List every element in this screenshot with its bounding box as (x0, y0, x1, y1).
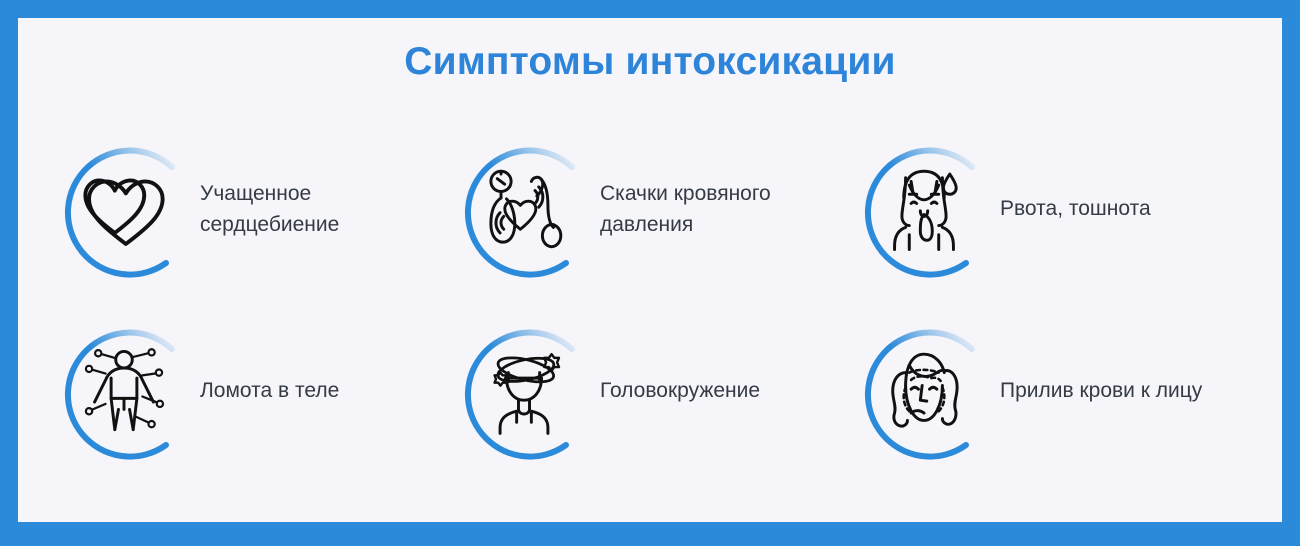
symptom-grid: Учащенное сердцебиение (54, 118, 1264, 482)
symptom-label: Головокружение (600, 375, 760, 406)
symptom-badge (54, 139, 194, 279)
symptom-badge (854, 139, 994, 279)
symptom-badge (454, 321, 594, 461)
symptom-item-blood-pressure[interactable]: Скачки кровяного давления (454, 118, 854, 300)
symptom-badge (454, 139, 594, 279)
symptom-label: Рвота, тошнота (1000, 193, 1151, 224)
blood-pressure-monitor-icon (478, 163, 570, 255)
infographic-panel: Симптомы интоксикации (18, 18, 1282, 522)
symptom-item-body-aches[interactable]: Ломота в теле (54, 300, 454, 482)
page-title: Симптомы интоксикации (18, 40, 1282, 84)
symptom-item-facial-flushing[interactable]: Прилив крови к лицу (854, 300, 1254, 482)
flushed-face-icon (878, 345, 970, 437)
symptom-label: Учащенное сердцебиение (200, 178, 435, 240)
symptom-label: Ломота в теле (200, 375, 339, 406)
symptom-label: Прилив крови к лицу (1000, 375, 1202, 406)
symptom-item-palpitations[interactable]: Учащенное сердцебиение (54, 118, 454, 300)
symptom-item-vomiting[interactable]: Рвота, тошнота (854, 118, 1254, 300)
body-pain-points-icon (78, 345, 170, 437)
infographic-card: Симптомы интоксикации (0, 0, 1300, 546)
double-heart-icon (78, 163, 170, 255)
nausea-person-icon (878, 163, 970, 255)
symptom-badge (854, 321, 994, 461)
symptom-badge (54, 321, 194, 461)
symptom-label: Скачки кровяного давления (600, 178, 835, 240)
symptom-item-dizziness[interactable]: Головокружение (454, 300, 854, 482)
dizzy-head-icon (478, 345, 570, 437)
